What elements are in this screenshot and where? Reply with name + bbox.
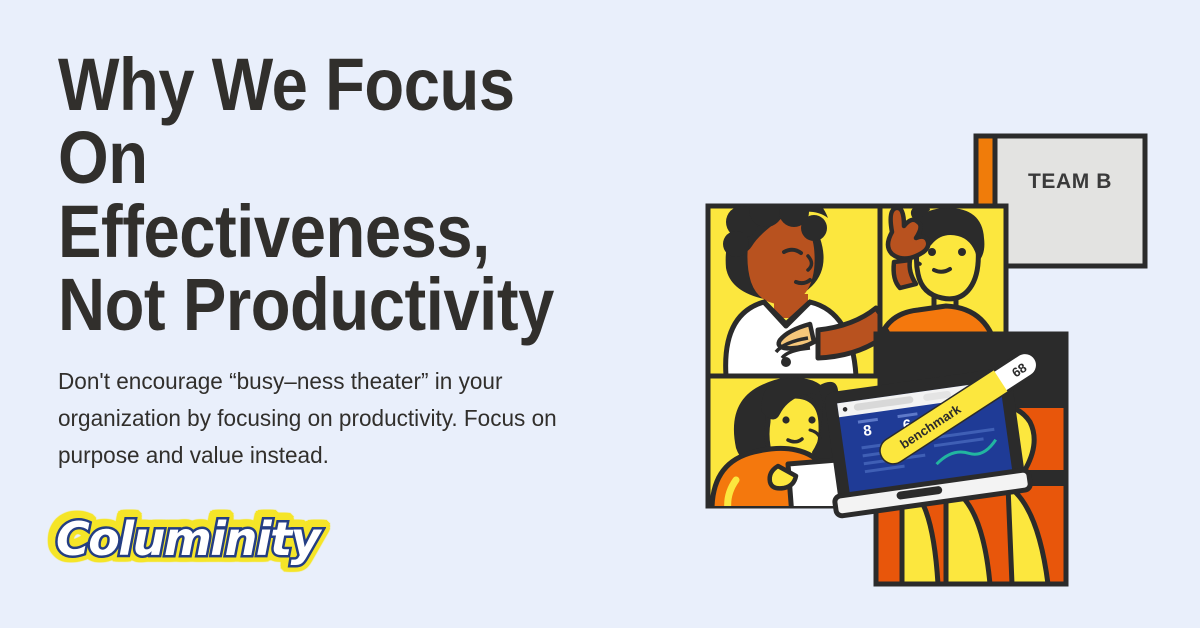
page-subtitle: Don't encourage “busy–ness theater” in y…: [58, 363, 620, 474]
hero-illustration: TEAM B: [690, 118, 1160, 588]
page-title: Why We Focus On Effectiveness, Not Produ…: [58, 48, 586, 341]
columinity-logo: Columinity: [56, 505, 319, 573]
team-b-label: TEAM B: [1028, 170, 1112, 193]
panel-top-left: [708, 192, 892, 389]
logo-wordmark: Columinity: [56, 512, 319, 566]
social-card-canvas: Why We Focus On Effectiveness, Not Produ…: [0, 0, 1200, 628]
